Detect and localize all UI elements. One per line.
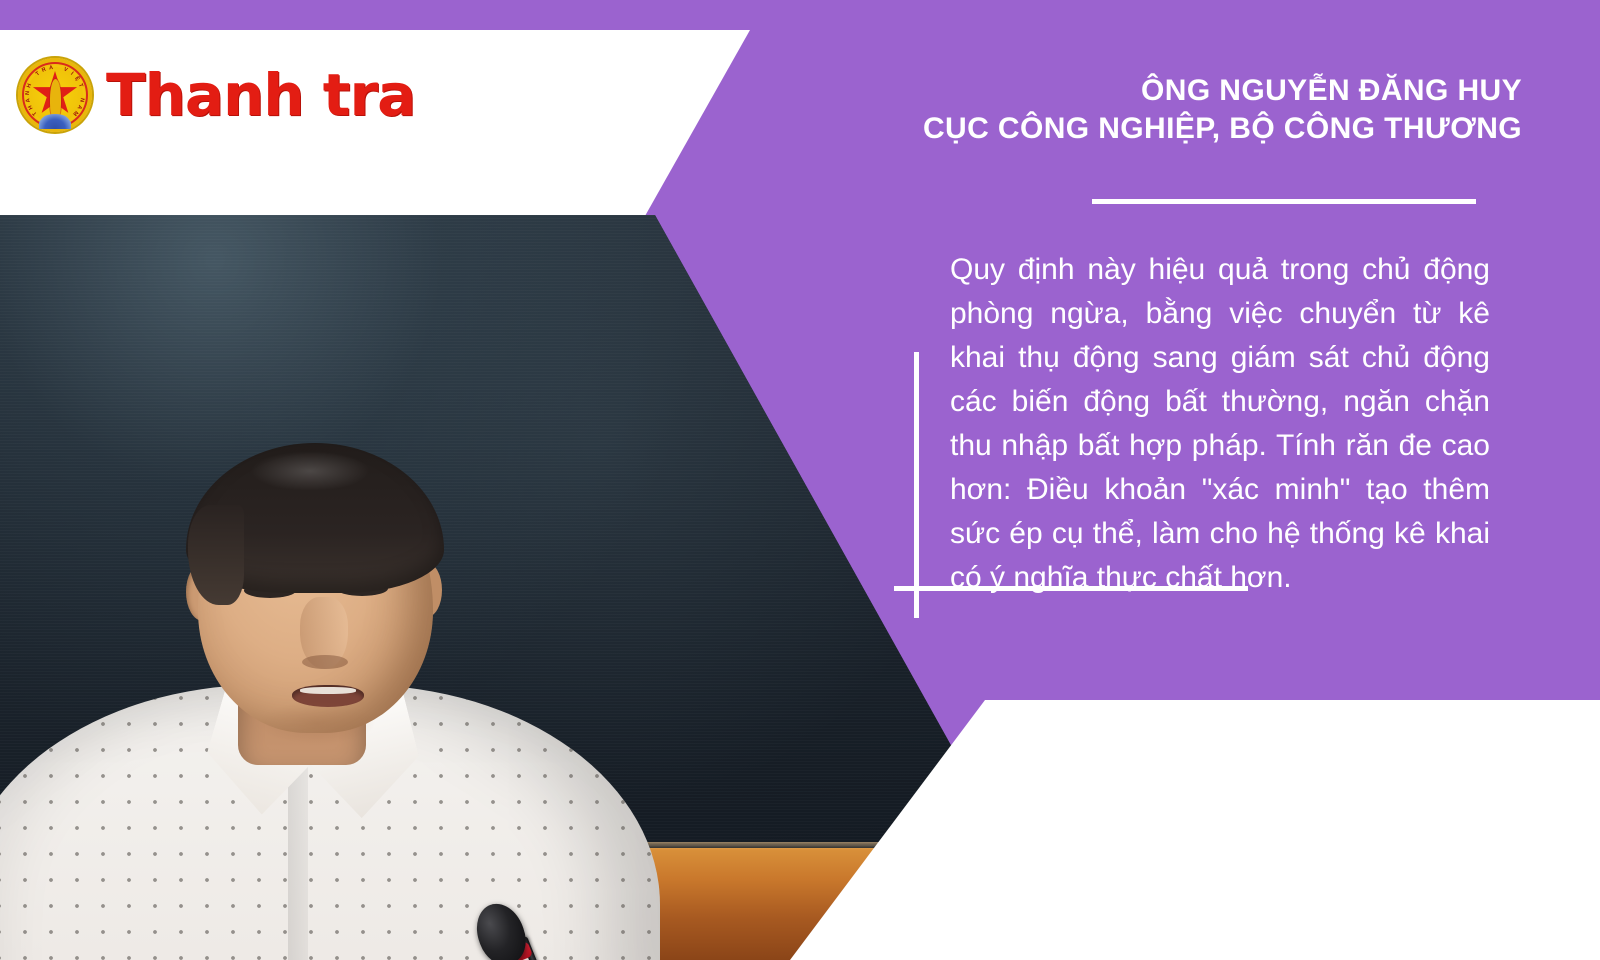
thanh-tra-emblem-icon: THANH TRA VIỆT NAM — [18, 58, 92, 132]
brand-wordmark: Thanh tra — [106, 66, 415, 124]
quote-block: Quy định này hiệu quả trong chủ động phò… — [950, 248, 1490, 600]
speaker-affiliation: CỤC CÔNG NGHIỆP, BỘ CÔNG THƯƠNG — [882, 110, 1522, 148]
brand-logo[interactable]: THANH TRA VIỆT NAM Thanh tra — [18, 58, 415, 132]
speaker-name: ÔNG NGUYỄN ĐĂNG HUY — [882, 72, 1522, 110]
photo-hair-highlight — [250, 451, 370, 491]
quote-text: Quy định này hiệu quả trong chủ động phò… — [950, 248, 1490, 600]
top-purple-band — [0, 0, 1600, 30]
speaker-header: ÔNG NGUYỄN ĐĂNG HUY CỤC CÔNG NGHIỆP, BỘ … — [882, 72, 1522, 148]
quote-card: THANH TRA VIỆT NAM Thanh tra ÔNG NGUYỄN … — [0, 0, 1600, 960]
emblem-base-icon — [39, 114, 71, 129]
accent-horizontal-line — [894, 586, 1248, 591]
photo-chin — [258, 701, 376, 745]
emblem-pillar-icon — [50, 79, 61, 119]
photo-nostrils — [302, 655, 348, 669]
header-divider — [1092, 199, 1476, 204]
accent-vertical-line — [914, 352, 919, 618]
